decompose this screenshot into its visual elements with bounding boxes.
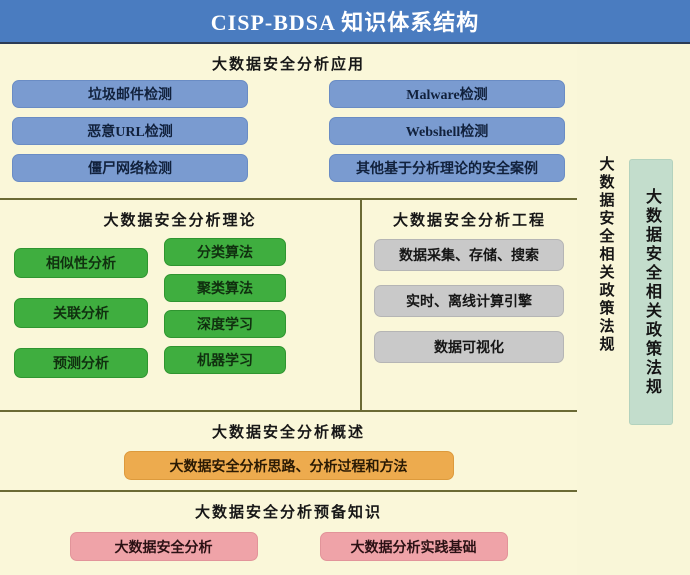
theory-chip[interactable]: 聚类算法 — [164, 274, 286, 302]
theory-chip[interactable]: 分类算法 — [164, 238, 286, 266]
engineering-chip[interactable]: 实时、离线计算引擎 — [374, 285, 564, 317]
overview-chip[interactable]: 大数据安全分析思路、分析过程和方法 — [124, 451, 454, 480]
theory-chip[interactable]: 深度学习 — [164, 310, 286, 338]
app-chip[interactable]: 恶意URL检测 — [12, 117, 248, 145]
applications-row: 僵尸网络检测 其他基于分析理论的安全案例 — [12, 154, 565, 182]
prerequisite-chip[interactable]: 大数据分析实践基础 — [320, 532, 508, 561]
section-applications-title: 大数据安全分析应用 — [0, 44, 577, 80]
app-chip[interactable]: 其他基于分析理论的安全案例 — [329, 154, 565, 182]
policy-plain-label: 大数据安全相关政策法规 — [593, 156, 619, 354]
section-engineering: 大数据安全分析工程 数据采集、存储、搜索 实时、离线计算引擎 数据可视化 — [362, 200, 577, 410]
policy-column: 大数据安全相关政策法规 大数据安全相关政策法规 — [577, 44, 690, 575]
theory-chip[interactable]: 相似性分析 — [14, 248, 148, 278]
prerequisite-chip[interactable]: 大数据安全分析 — [70, 532, 258, 561]
policy-boxed-label-text: 大数据安全相关政策法规 — [639, 188, 663, 397]
section-theory-engineering: 大数据安全分析理论 相似性分析 关联分析 预测分析 分类算法 聚类算法 深度学习… — [0, 200, 577, 412]
theory-column-left: 相似性分析 关联分析 预测分析 — [14, 236, 148, 378]
section-applications: 大数据安全分析应用 垃圾邮件检测 Malware检测 恶意URL检测 Websh… — [0, 44, 577, 200]
app-chip[interactable]: 垃圾邮件检测 — [12, 80, 248, 108]
app-chip[interactable]: Malware检测 — [329, 80, 565, 108]
applications-row: 恶意URL检测 Webshell检测 — [12, 117, 565, 145]
theory-grid: 相似性分析 关联分析 预测分析 分类算法 聚类算法 深度学习 机器学习 — [0, 236, 360, 378]
policy-boxed-label[interactable]: 大数据安全相关政策法规 — [629, 159, 673, 425]
diagram-title-bar: CISP-BDSA 知识体系结构 — [0, 0, 690, 44]
engineering-chip[interactable]: 数据可视化 — [374, 331, 564, 363]
diagram-body: 大数据安全分析应用 垃圾邮件检测 Malware检测 恶意URL检测 Websh… — [0, 44, 690, 575]
section-prerequisites: FREEBUF 大数据安全分析预备知识 大数据安全分析 大数据分析实践基础 — [0, 492, 577, 575]
section-prerequisites-title: 大数据安全分析预备知识 — [0, 492, 577, 528]
applications-row: 垃圾邮件检测 Malware检测 — [12, 80, 565, 108]
applications-grid: 垃圾邮件检测 Malware检测 恶意URL检测 Webshell检测 僵尸网络… — [0, 80, 577, 182]
app-chip[interactable]: 僵尸网络检测 — [12, 154, 248, 182]
main-column: 大数据安全分析应用 垃圾邮件检测 Malware检测 恶意URL检测 Websh… — [0, 44, 577, 575]
knowledge-structure-diagram: CISP-BDSA 知识体系结构 大数据安全分析应用 垃圾邮件检测 Malwar… — [0, 0, 690, 575]
theory-chip[interactable]: 关联分析 — [14, 298, 148, 328]
section-overview-title: 大数据安全分析概述 — [0, 412, 577, 448]
theory-chip[interactable]: 机器学习 — [164, 346, 286, 374]
app-chip[interactable]: Webshell检测 — [329, 117, 565, 145]
section-theory-title: 大数据安全分析理论 — [0, 200, 360, 236]
overview-list: 大数据安全分析思路、分析过程和方法 — [0, 448, 577, 480]
prerequisites-list: 大数据安全分析 大数据分析实践基础 — [0, 528, 577, 561]
section-overview: 大数据安全分析概述 大数据安全分析思路、分析过程和方法 — [0, 412, 577, 492]
policy-plain-label-text: 大数据安全相关政策法规 — [596, 156, 617, 354]
engineering-chip[interactable]: 数据采集、存储、搜索 — [374, 239, 564, 271]
engineering-list: 数据采集、存储、搜索 实时、离线计算引擎 数据可视化 — [362, 236, 577, 363]
section-theory: 大数据安全分析理论 相似性分析 关联分析 预测分析 分类算法 聚类算法 深度学习… — [0, 200, 362, 410]
theory-chip[interactable]: 预测分析 — [14, 348, 148, 378]
page-title: CISP-BDSA 知识体系结构 — [211, 5, 479, 37]
theory-column-right: 分类算法 聚类算法 深度学习 机器学习 — [164, 236, 286, 378]
section-engineering-title: 大数据安全分析工程 — [362, 200, 577, 236]
